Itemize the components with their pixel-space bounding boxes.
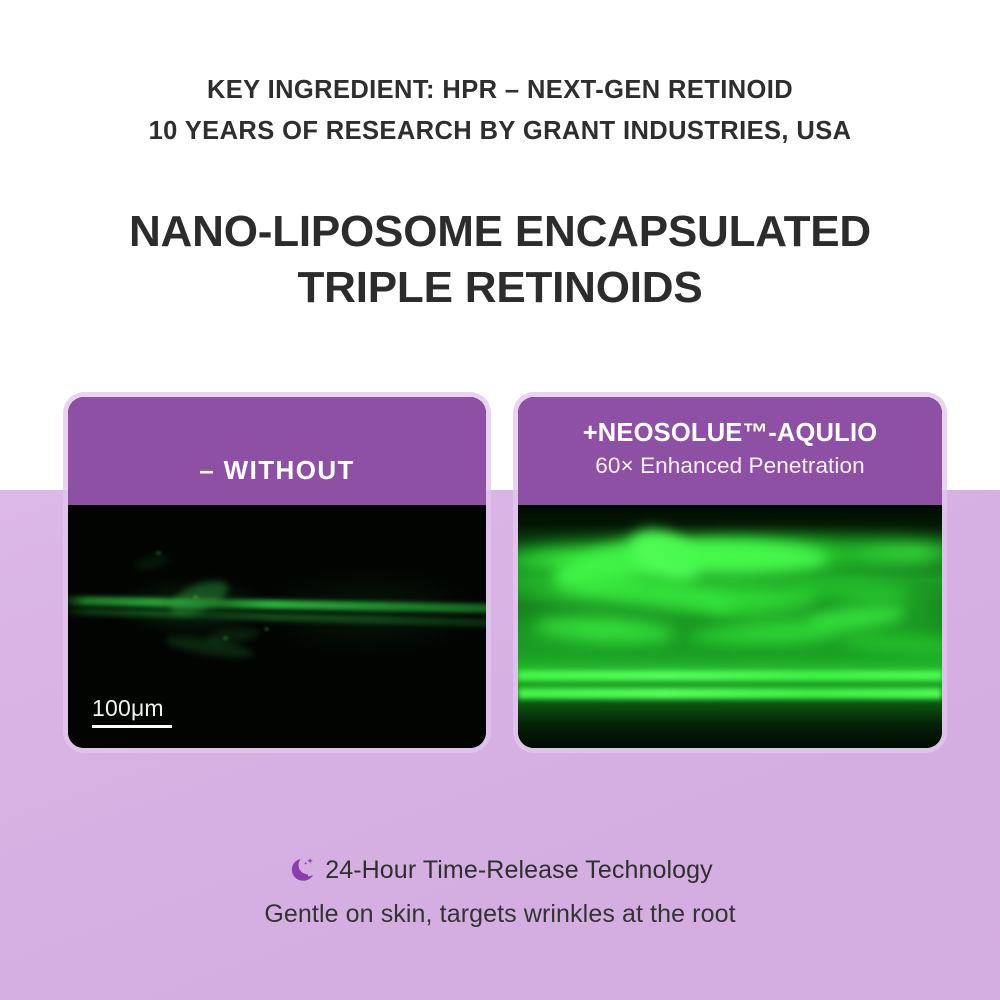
page-title: NANO-LIPOSOME ENCAPSULATED TRIPLE RETINO…: [0, 204, 1000, 316]
weak-fluorescence-speck: [264, 627, 269, 631]
promo-graphic: KEY INGREDIENT: HPR – NEXT-GEN RETINOID …: [0, 0, 1000, 1000]
feature-time-release-label: 24-Hour Time-Release Technology: [325, 856, 713, 885]
kicker-block: KEY INGREDIENT: HPR – NEXT-GEN RETINOID …: [0, 70, 1000, 152]
kicker-line-1: KEY INGREDIENT: HPR – NEXT-GEN RETINOID: [0, 70, 1000, 111]
headline-line-1: NANO-LIPOSOME ENCAPSULATED: [0, 204, 1000, 260]
panel-subtitle-with-neosolue: 60× Enhanced Penetration: [595, 453, 865, 479]
panel-title-without: – WITHOUT: [199, 455, 355, 486]
scale-bar: 100μm: [92, 695, 172, 728]
tagline: Gentle on skin, targets wrinkles at the …: [0, 900, 1000, 929]
weak-fluorescence-speck: [223, 636, 228, 640]
panel-header-with-neosolue: +NEOSOLUE™-AQULIO 60× Enhanced Penetrati…: [518, 397, 942, 505]
panel-header-without: – WITHOUT: [68, 397, 486, 505]
strong-fluorescence-hot-line: [518, 671, 942, 680]
panel-title-with-neosolue: +NEOSOLUE™-AQULIO: [583, 419, 878, 448]
scale-bar-label: 100μm: [92, 695, 172, 721]
micrograph-without: 100μm: [68, 505, 486, 748]
feature-time-release: 24-Hour Time-Release Technology: [0, 855, 1000, 885]
scale-bar-rule: [92, 725, 172, 728]
micrograph-with-neosolue: [518, 505, 942, 748]
weak-fluorescence-speck: [156, 551, 161, 555]
kicker-line-2: 10 YEARS OF RESEARCH BY GRANT INDUSTRIES…: [0, 111, 1000, 152]
crescent-moon-sparkle-icon: [287, 855, 317, 885]
comparison-panel-with-neosolue: +NEOSOLUE™-AQULIO 60× Enhanced Penetrati…: [518, 397, 942, 748]
headline-line-2: TRIPLE RETINOIDS: [0, 260, 1000, 316]
comparison-panel-without: – WITHOUT 100μm: [68, 397, 486, 748]
strong-fluorescence-hot-line: [518, 688, 942, 699]
